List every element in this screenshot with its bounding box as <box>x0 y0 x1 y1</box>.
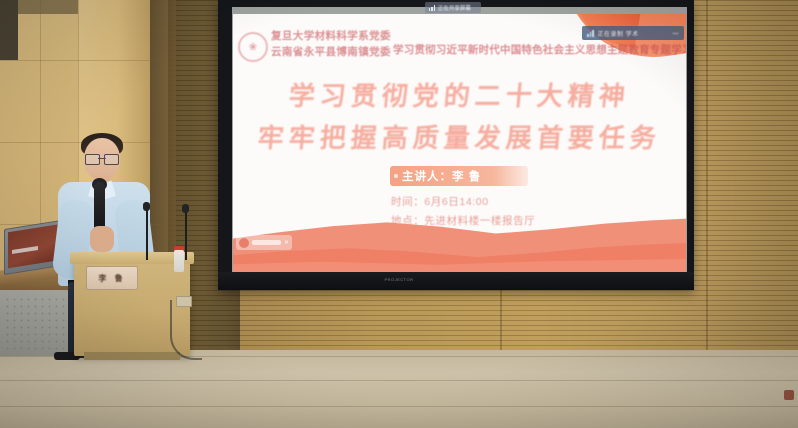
close-icon: ✕ <box>284 239 289 246</box>
presentation-slide: 正在录制 学术 〰 ❀ 复旦大学材料科学系党委 云南省永平县博南镇党委 学习贯彻… <box>233 14 686 272</box>
gooseneck-microphone-head-icon <box>182 204 189 213</box>
screen-share-label: 正在共享屏幕 <box>438 4 471 12</box>
speaker-banner-label: 主讲人：李 鲁 <box>402 168 481 184</box>
chip-label-placeholder <box>252 240 281 245</box>
slide-overlay-chip: ✕ <box>236 235 292 250</box>
wall-seam <box>706 0 708 352</box>
power-cable <box>170 300 202 360</box>
slide-title-line-2: 牢牢把握高质量发展首要任务 <box>233 118 686 155</box>
gooseneck-microphone-stand <box>146 208 148 260</box>
wall-recess-top <box>18 0 78 14</box>
official-seal-icon: ❀ <box>238 32 268 62</box>
slide-title-line-1: 学习贯彻党的二十大精神 <box>233 76 686 113</box>
floor-object <box>784 390 794 400</box>
podium-base <box>84 352 180 360</box>
organizer-line-2: 云南省永平县博南镇党委 <box>271 44 391 60</box>
screen-bottom-bar <box>218 272 694 290</box>
water-bottle <box>174 250 184 272</box>
speaker-banner: 主讲人：李 鲁 <box>390 166 528 186</box>
glasses-icon <box>85 154 119 163</box>
avatar-icon <box>239 238 249 248</box>
gooseneck-microphone-head-icon <box>143 202 150 211</box>
slide-time: 时间：6月6日14:00 <box>391 194 489 209</box>
panel-seam <box>0 60 168 61</box>
banner-dot-icon <box>394 174 398 178</box>
nameplate-label: 李 鲁 <box>98 273 125 284</box>
floor <box>0 350 798 428</box>
screen-share-badge: 正在共享屏幕 <box>425 2 481 13</box>
signal-bars-icon <box>429 5 435 11</box>
nameplate: 李 鲁 <box>86 266 138 290</box>
wall-recess-left <box>0 0 18 60</box>
gooseneck-microphone-stand <box>185 210 187 260</box>
hand <box>90 226 114 252</box>
organizer-names: 复旦大学材料科学系党委 云南省永平县博南镇党委 <box>271 28 391 60</box>
organizer-line-1: 复旦大学材料科学系党委 <box>271 28 391 44</box>
slide-subtitle: 学习贯彻习近平新时代中国特色社会主义思想主题教育专题学习会 <box>393 42 686 57</box>
slide-header: ❀ 复旦大学材料科学系党委 云南省永平县博南镇党委 学习贯彻习近平新时代中国特色… <box>233 26 686 70</box>
lecture-photo-scene: 正在录制 学术 〰 ❀ 复旦大学材料科学系党委 云南省永平县博南镇党委 学习贯彻… <box>0 0 798 428</box>
projector-logo: PROJECTOR <box>384 277 413 282</box>
